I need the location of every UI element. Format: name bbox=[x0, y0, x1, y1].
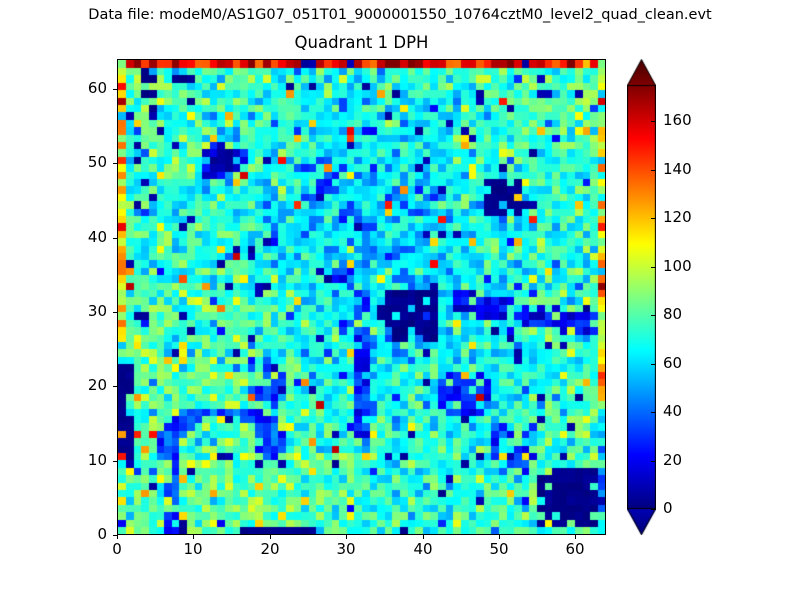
colorbar-tick-mark bbox=[651, 170, 656, 171]
colorbar-tick-label: 40 bbox=[663, 403, 682, 420]
x-tick-mark bbox=[117, 535, 118, 539]
y-tick-mark bbox=[113, 461, 117, 462]
x-tick-mark bbox=[575, 535, 576, 539]
x-tick-label: 0 bbox=[97, 541, 137, 558]
y-tick-label: 30 bbox=[63, 303, 107, 320]
colorbar bbox=[627, 59, 656, 535]
colorbar-tick-mark bbox=[651, 412, 656, 413]
colorbar-tick-mark bbox=[651, 509, 656, 510]
y-tick-mark bbox=[113, 89, 117, 90]
colorbar-tick-label: 120 bbox=[663, 209, 692, 226]
colorbar-tick-mark bbox=[651, 121, 656, 122]
colorbar-tick-mark bbox=[651, 267, 656, 268]
x-tick-mark bbox=[499, 535, 500, 539]
colorbar-tick-label: 100 bbox=[663, 258, 692, 275]
heatmap-image bbox=[118, 60, 605, 534]
colorbar-tick-label: 80 bbox=[663, 306, 682, 323]
y-tick-mark bbox=[113, 163, 117, 164]
x-tick-mark bbox=[193, 535, 194, 539]
colorbar-tick-label: 140 bbox=[663, 161, 692, 178]
figure-suptitle: Data file: modeM0/AS1G07_051T01_90000015… bbox=[0, 6, 800, 24]
x-tick-label: 20 bbox=[250, 541, 290, 558]
x-tick-label: 10 bbox=[173, 541, 213, 558]
x-tick-mark bbox=[270, 535, 271, 539]
x-tick-label: 50 bbox=[479, 541, 519, 558]
y-tick-mark bbox=[113, 386, 117, 387]
y-tick-label: 60 bbox=[63, 80, 107, 97]
colorbar-gradient bbox=[627, 59, 656, 535]
heatmap-axes bbox=[117, 59, 606, 535]
colorbar-tick-label: 20 bbox=[663, 452, 682, 469]
y-tick-label: 10 bbox=[63, 452, 107, 469]
y-tick-label: 50 bbox=[63, 154, 107, 171]
x-tick-label: 40 bbox=[403, 541, 443, 558]
colorbar-tick-mark bbox=[651, 461, 656, 462]
y-tick-mark bbox=[113, 312, 117, 313]
y-tick-label: 20 bbox=[63, 377, 107, 394]
x-tick-label: 60 bbox=[555, 541, 595, 558]
colorbar-tick-label: 0 bbox=[663, 500, 673, 517]
colorbar-tick-mark bbox=[651, 364, 656, 365]
colorbar-tick-label: 160 bbox=[663, 112, 692, 129]
x-tick-label: 30 bbox=[326, 541, 366, 558]
y-tick-mark bbox=[113, 535, 117, 536]
x-tick-mark bbox=[423, 535, 424, 539]
colorbar-tick-mark bbox=[651, 315, 656, 316]
figure-canvas: Data file: modeM0/AS1G07_051T01_90000015… bbox=[0, 0, 800, 600]
plot-title: Quadrant 1 DPH bbox=[117, 33, 606, 53]
y-tick-label: 40 bbox=[63, 229, 107, 246]
x-tick-mark bbox=[346, 535, 347, 539]
colorbar-tick-mark bbox=[651, 218, 656, 219]
y-tick-mark bbox=[113, 238, 117, 239]
colorbar-tick-label: 60 bbox=[663, 355, 682, 372]
y-tick-label: 0 bbox=[63, 526, 107, 543]
